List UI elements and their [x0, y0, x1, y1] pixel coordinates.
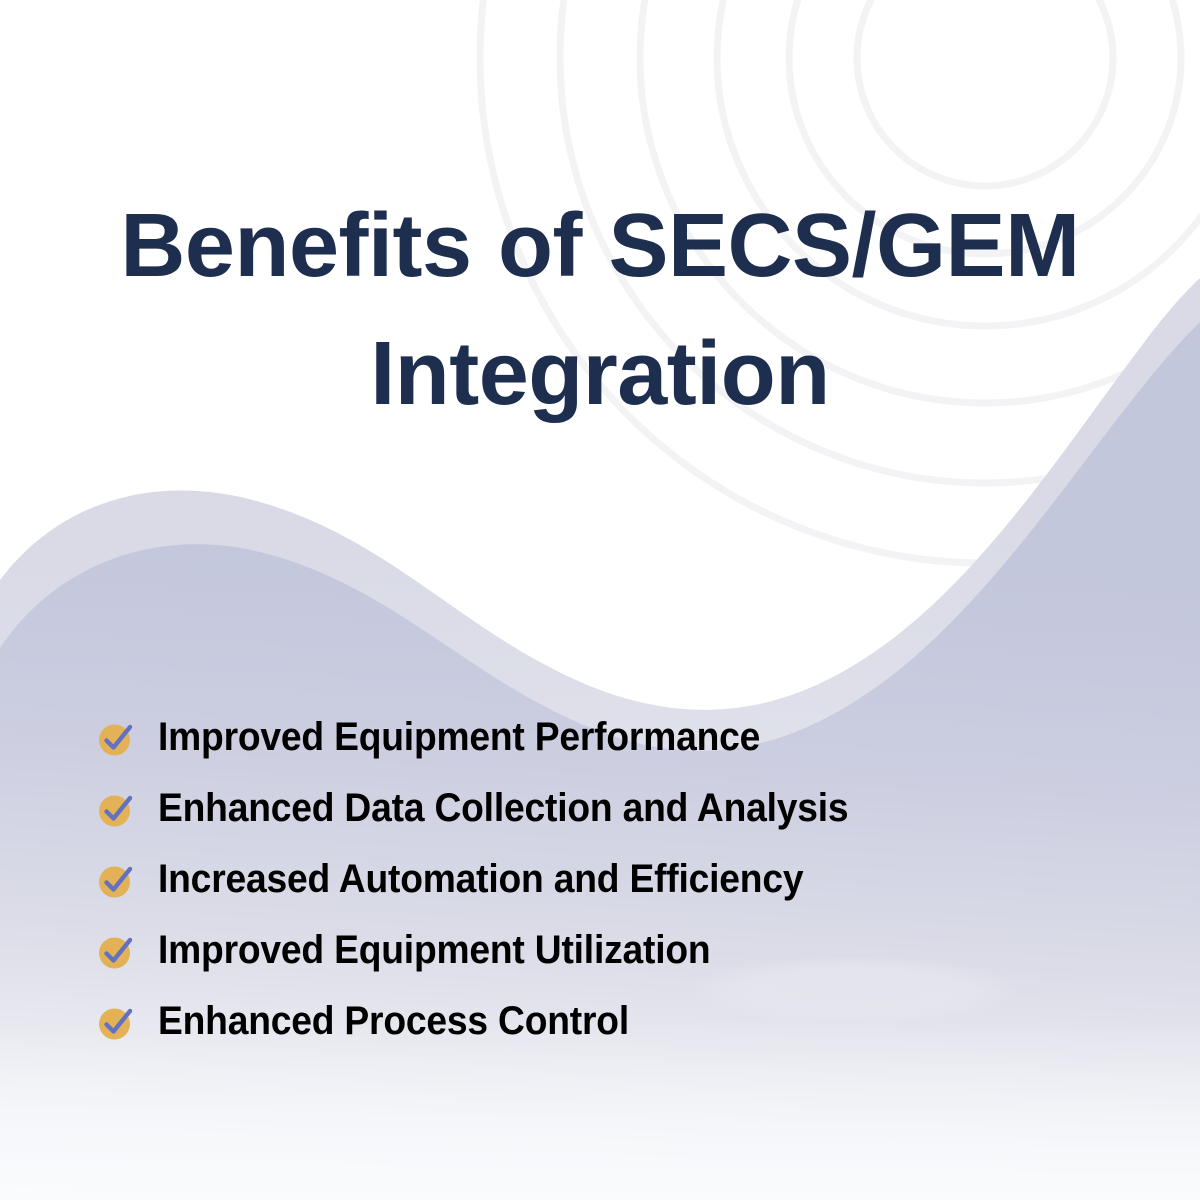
list-item: Increased Automation and Efficiency: [96, 843, 1136, 914]
list-item-label: Enhanced Data Collection and Analysis: [158, 785, 848, 831]
page-title: Benefits of SECS/GEM Integration: [0, 182, 1200, 438]
check-circle-icon: [96, 998, 142, 1044]
check-circle-icon: [96, 927, 142, 973]
list-item: Improved Equipment Utilization: [96, 914, 1136, 985]
list-item-label: Enhanced Process Control: [158, 998, 629, 1044]
list-item-label: Improved Equipment Utilization: [158, 927, 710, 973]
list-item: Improved Equipment Performance: [96, 701, 1136, 772]
page-title-text: Benefits of SECS/GEM Integration: [95, 182, 1105, 438]
list-item-label: Increased Automation and Efficiency: [158, 856, 803, 902]
check-circle-icon: [96, 785, 142, 831]
list-item: Enhanced Process Control: [96, 985, 1136, 1056]
list-item: Enhanced Data Collection and Analysis: [96, 772, 1136, 843]
benefits-list: Improved Equipment Performance Enhanced …: [96, 701, 1136, 1056]
check-circle-icon: [96, 856, 142, 902]
list-item-label: Improved Equipment Performance: [158, 714, 760, 760]
slide-canvas: Benefits of SECS/GEM Integration Improve…: [0, 0, 1200, 1200]
check-circle-icon: [96, 714, 142, 760]
